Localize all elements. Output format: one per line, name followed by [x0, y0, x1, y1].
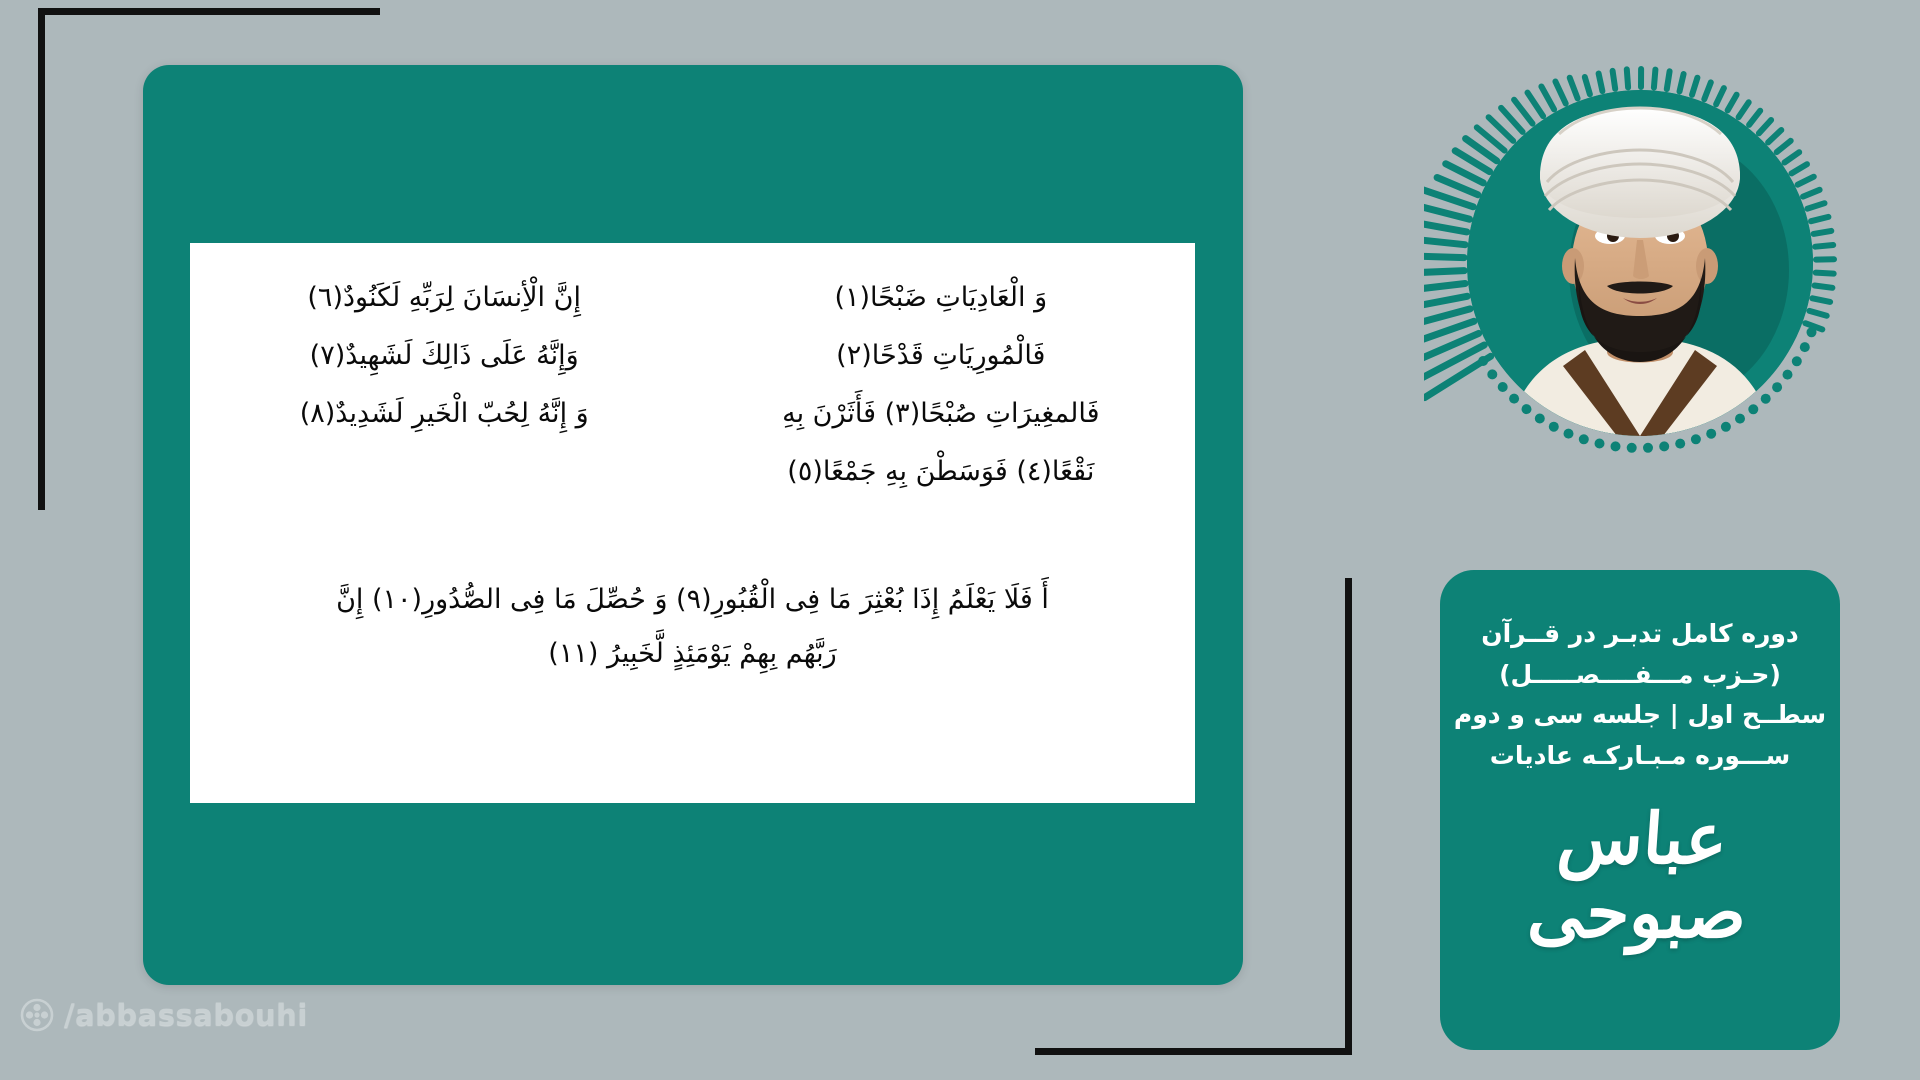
watermark-handle: /abbassabouhi: [64, 998, 308, 1032]
verse-line: أَ فَلَا يَعْلَمُ إِذَا بُعْثِرَ مَا فِى…: [234, 573, 1151, 627]
verse-line: وَ الْعَادِيَاتِ ضَبْحًا(١): [721, 269, 1161, 327]
verse-panel: وَ الْعَادِيَاتِ ضَبْحًا(١) فَالْمُورِيَ…: [190, 243, 1195, 803]
verse-column-right: وَ الْعَادِيَاتِ ضَبْحًا(١) فَالْمُورِيَ…: [721, 269, 1161, 501]
verse-column-left: إِنَّ الْأِنسَانَ لِرَبِّهِ لَكَنُودٌ(٦)…: [224, 269, 664, 443]
verse-line: وَ إِنَّهُ لِحُبّ الْخَيرِ لَشَدِيدٌ(٨): [224, 385, 664, 443]
watermark: /abbassabouhi: [20, 998, 308, 1032]
verse-line: نَقْعًا(٤) فَوَسَطْنَ بِهِ جَمْعًا(٥): [721, 443, 1161, 501]
title-card: دوره کامل تدبـر در قــرآن (حـزب مـــفـــ…: [1440, 570, 1840, 1050]
verse-line: فَالمغِيرَاتِ صُبْحًا(٣) فَأَثَرْنَ بِهِ: [721, 385, 1161, 443]
verse-line: وَإِنَّهُ عَلَى ذَالِكَ لَشَهِيدٌ(٧): [224, 327, 664, 385]
speaker-portrait-icon: [1467, 90, 1813, 436]
verse-line: رَبَّهُم بِهِمْ يَوْمَئِذٍ لَّخَبِيرُ (١…: [234, 627, 1151, 681]
verse-line: إِنَّ الْأِنسَانَ لِرَبِّهِ لَكَنُودٌ(٦): [224, 269, 664, 327]
title-line-course: دوره کامل تدبـر در قــرآن: [1481, 614, 1799, 655]
title-line-session: سطــح اول | جلسه سی و دوم: [1454, 695, 1826, 736]
title-line-hizb: (حـزب مـــفــــصـــــل): [1499, 655, 1781, 696]
slide-canvas: وَ الْعَادِيَاتِ ضَبْحًا(١) فَالْمُورِيَ…: [0, 0, 1920, 1080]
verse-line: فَالْمُورِيَاتِ قَدْحًا(٢): [721, 327, 1161, 385]
title-line-surah: ســـوره مـبـارکـه عادیات: [1490, 736, 1790, 777]
avatar-disc: [1467, 90, 1813, 436]
verse-columns: وَ الْعَادِيَاتِ ضَبْحًا(١) فَالْمُورِيَ…: [224, 269, 1161, 501]
verse-bottom-paragraph: أَ فَلَا يَعْلَمُ إِذَا بُعْثِرَ مَا فِى…: [224, 573, 1161, 681]
aparat-film-reel-icon: [20, 998, 54, 1032]
presenter-signature: عباس صبوحی: [1457, 802, 1823, 949]
avatar: [1424, 22, 1854, 492]
